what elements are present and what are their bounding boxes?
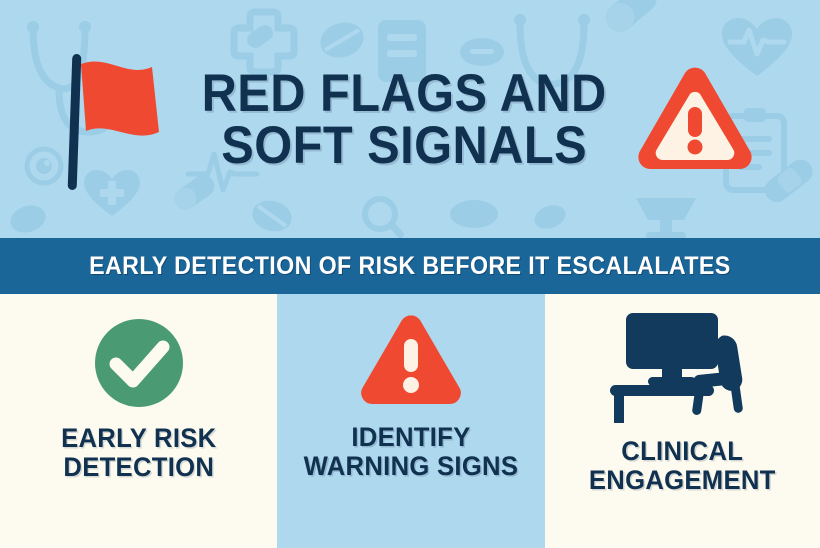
title-line-2: SOFT SIGNALS: [201, 120, 606, 172]
desk-monitor-chair-icon: [608, 311, 758, 423]
header-content: RED FLAGS AND SOFT SIGNALS: [0, 0, 820, 238]
infographic-root: RED FLAGS AND SOFT SIGNALS EARLY DETECTI…: [0, 0, 820, 548]
panel-label-3-line1: CLINICAL: [622, 436, 744, 466]
panels-row: EARLY RISK DETECTION IDENTIFY WARNING SI…: [0, 294, 820, 548]
page-title: RED FLAGS AND SOFT SIGNALS: [184, 68, 624, 172]
panel-label-1-line2: DETECTION: [61, 453, 216, 482]
red-flag-icon: [64, 52, 176, 192]
panel-label-2: IDENTIFY WARNING SIGNS: [304, 423, 519, 480]
red-warning-triangle-icon: [358, 313, 464, 409]
title-line-1: RED FLAGS AND: [201, 68, 606, 120]
subtitle-banner: EARLY DETECTION OF RISK BEFORE IT ESCALA…: [0, 238, 820, 294]
panel-label-1: EARLY RISK DETECTION: [61, 424, 216, 481]
panel-label-1-line1: EARLY RISK: [61, 423, 216, 453]
warning-triangle-icon: [634, 65, 756, 177]
panel-label-2-line2: WARNING SIGNS: [304, 452, 519, 481]
panel-label-3-line2: ENGAGEMENT: [589, 466, 776, 495]
banner-text: EARLY DETECTION OF RISK BEFORE IT ESCALA…: [89, 252, 731, 281]
green-check-circle-icon: [92, 316, 186, 410]
panel-label-2-line1: IDENTIFY: [351, 422, 470, 452]
header-section: RED FLAGS AND SOFT SIGNALS: [0, 0, 820, 238]
panel-identify-warning-signs[interactable]: IDENTIFY WARNING SIGNS: [277, 294, 545, 548]
panel-clinical-engagement[interactable]: CLINICAL ENGAGEMENT: [545, 294, 820, 548]
panel-label-3: CLINICAL ENGAGEMENT: [589, 437, 776, 494]
panel-early-risk-detection[interactable]: EARLY RISK DETECTION: [0, 294, 277, 548]
